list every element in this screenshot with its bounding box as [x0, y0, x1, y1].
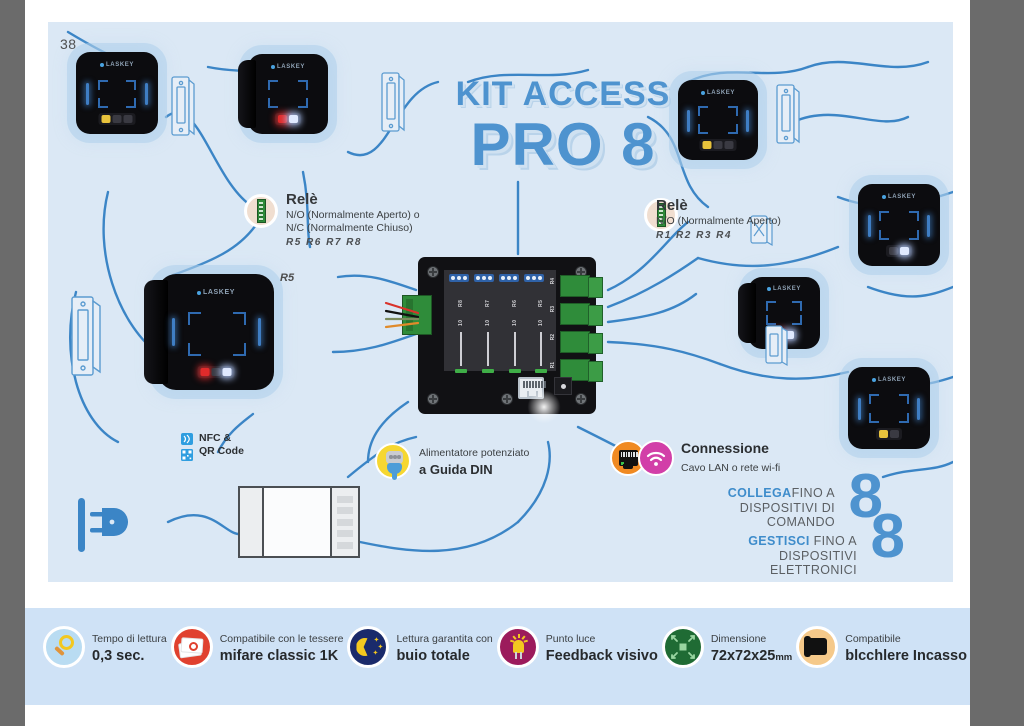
- callout-sub-2: N/C (Normalmente Chiuso): [286, 222, 420, 235]
- feature-line-1: Lettura garantita con: [396, 633, 492, 645]
- feature-line-1: Dimensione: [711, 633, 766, 645]
- scan-bracket-icon: [879, 211, 889, 221]
- scan-bracket-icon: [766, 301, 776, 311]
- electric-strike-lock-icon: [773, 82, 803, 148]
- channel-indicator: [482, 369, 494, 373]
- callout-channels: R1 R2 R3 R4: [656, 230, 781, 241]
- channel-stalk: [514, 332, 516, 366]
- board-screw: [427, 393, 439, 405]
- feature-line-2: blcchlere Incasso: [845, 648, 967, 664]
- scan-bracket-icon: [298, 98, 308, 108]
- diagram-panel: 38 KIT ACCESS PRO 8 LASKEY LASKEY: [48, 22, 953, 582]
- board-screw: [427, 266, 439, 278]
- flush-box-icon: [796, 626, 838, 668]
- capacity-manage-count: 8: [871, 506, 905, 568]
- plug-icon: [387, 463, 402, 474]
- led-white: [900, 247, 909, 255]
- nfc-qr-label: NFC & QR Code: [199, 432, 244, 462]
- feature-line-1: Compatibile: [845, 633, 900, 645]
- scan-bracket-icon: [98, 98, 108, 108]
- scan-bracket-icon: [869, 413, 879, 423]
- channel-label: R5: [538, 290, 544, 316]
- power-supply-line-1: Alimentatore potenziato: [419, 447, 529, 459]
- pin-header-block: [524, 274, 544, 282]
- feature-light-point: Punto luce Feedback visivo: [497, 626, 658, 668]
- callout-channels: R5 R6 R7 R8: [286, 237, 420, 248]
- brand-logo: LASKEY: [248, 64, 328, 70]
- led-amber: [879, 430, 888, 438]
- reader-side-face: [738, 283, 756, 343]
- feature-text: Dimensione 72x72x25mm: [711, 629, 792, 665]
- relay-terminal-group[interactable]: R4 R3 R2 R1: [560, 275, 590, 381]
- scan-bracket-icon: [98, 80, 108, 90]
- relay-terminal-r4[interactable]: R4: [560, 275, 590, 297]
- pin-header-row: [449, 274, 544, 282]
- side-led-icon: [858, 398, 861, 420]
- reader-side-face: [238, 60, 256, 128]
- side-led-icon: [86, 83, 89, 105]
- psu-terminal-segment: [332, 488, 358, 556]
- feature-text: Lettura garantita con buio totale: [396, 629, 492, 665]
- scan-bracket-icon: [126, 98, 136, 108]
- strike-lock-small-icon: [763, 322, 791, 368]
- rj45-pins: [523, 381, 546, 388]
- callout-title: Relè: [656, 198, 781, 215]
- board-channel-r6: R6 10: [502, 290, 528, 373]
- magnifier-glyph: [51, 634, 77, 660]
- moon-glyph: ✦ ✦ ✦: [355, 635, 381, 659]
- capacity-connect-line-2: DISPOSITIVI DI COMANDO: [700, 501, 835, 529]
- qr-label: QR Code: [199, 445, 244, 457]
- scan-bracket-icon: [188, 343, 201, 356]
- capacity-manage-rest: FINO A: [810, 534, 857, 548]
- channel-sublabel: 10: [458, 316, 464, 330]
- status-leds: [886, 245, 912, 257]
- reader-module-top-left[interactable]: LASKEY: [76, 52, 158, 134]
- power-supply-labels: Alimentatore potenziato a Guida DIN: [419, 443, 529, 479]
- feature-unit: mm: [775, 652, 792, 663]
- brand-dot-icon: [197, 291, 201, 295]
- rj45-notch: [527, 391, 538, 398]
- led-off: [889, 247, 898, 255]
- feature-line-1: Punto luce: [546, 633, 596, 645]
- feature-dimension: Dimensione 72x72x25mm: [662, 626, 792, 668]
- scan-bracket-icon: [188, 312, 201, 325]
- side-led-icon: [868, 215, 871, 237]
- reader-module-top-second[interactable]: LASKEY: [248, 54, 328, 134]
- channel-label: R7: [485, 290, 491, 316]
- board-channel-r7: R7 10: [475, 290, 501, 373]
- callout-power-supply: Alimentatore potenziato a Guida DIN: [375, 443, 529, 479]
- scan-bracket-icon: [298, 80, 308, 90]
- callout-relay-right: Relè N/O (Normalmente Aperto) R1 R2 R3 R…: [656, 198, 781, 241]
- relay-terminal-r3[interactable]: R3: [560, 303, 590, 325]
- moon-stars-icon: ✦ ✦ ✦: [347, 626, 389, 668]
- frame-left-bar: [0, 0, 22, 726]
- channel-indicator: [535, 369, 547, 373]
- side-led-icon: [687, 110, 690, 132]
- led-red: [201, 368, 210, 376]
- feature-text: Punto luce Feedback visivo: [546, 629, 658, 665]
- board-screw: [501, 393, 513, 405]
- led-light-icon: [497, 626, 539, 668]
- connection-icons: [610, 440, 674, 476]
- rj45-ethernet-port[interactable]: [518, 377, 544, 399]
- side-led-icon: [917, 398, 920, 420]
- capacity-manage-line-2: DISPOSITIVI ELETTRONICI: [700, 549, 857, 577]
- power-supply-icon: [375, 443, 411, 479]
- wifi-waves-glyph: [645, 449, 667, 467]
- side-led-icon: [746, 110, 749, 132]
- side-led-icon: [258, 318, 261, 346]
- feature-bar: Tempo di lettura 0,3 sec. Compatibile co…: [25, 608, 970, 705]
- brand-logo: LASKEY: [748, 286, 820, 292]
- feature-line-2: 72x72x25mm: [711, 648, 792, 664]
- terminal-label: R4: [550, 278, 556, 284]
- brand-logo: LASKEY: [678, 90, 758, 96]
- led-amber: [102, 115, 111, 123]
- relay-connector-icon: [257, 199, 266, 223]
- feature-line-2: 0,3 sec.: [92, 648, 144, 664]
- scan-bracket-icon: [792, 315, 802, 325]
- feature-read-time: Tempo di lettura 0,3 sec.: [43, 626, 167, 668]
- terminal-label: R1: [550, 362, 556, 368]
- side-led-icon: [927, 215, 930, 237]
- brand-dot-icon: [882, 195, 886, 199]
- card-stack-icon: [171, 626, 213, 668]
- status-leds: [275, 113, 301, 125]
- relay-terminal-r2[interactable]: R2: [560, 331, 590, 353]
- scan-bracket-icon: [728, 124, 738, 134]
- capacity-manage-strong: GESTISCI: [748, 534, 810, 548]
- lan-jack-glyph: [619, 450, 638, 466]
- reader-module-right-3[interactable]: LASKEY: [848, 367, 930, 449]
- side-led-icon: [145, 83, 148, 105]
- qr-code-icon: [180, 448, 194, 462]
- led-off: [714, 141, 723, 149]
- scan-bracket-icon: [698, 124, 708, 134]
- scan-bracket-icon: [909, 230, 919, 240]
- scan-bracket-icon: [909, 211, 919, 221]
- reader-module-top-right[interactable]: LASKEY: [678, 80, 758, 160]
- scan-bracket-icon: [899, 394, 909, 404]
- capacity-block: 8 8 COLLEGAFINO A DISPOSITIVI DI COMANDO…: [700, 468, 905, 573]
- power-supply-line-2: a Guida DIN: [419, 462, 493, 477]
- psu-body-segment: [264, 488, 332, 556]
- feature-flush-box: Compatibile blcchlere Incasso: [796, 626, 956, 668]
- device-tag-main: R5: [280, 272, 294, 284]
- board-main-chip-area: R8 10 R7 10 R6 10 R5: [444, 270, 556, 371]
- terminal-label: R3: [550, 306, 556, 312]
- electric-strike-lock-icon: [378, 70, 408, 136]
- pin-header-block: [499, 274, 519, 282]
- capacity-connect-rest: FINO A: [792, 486, 835, 500]
- status-leds: [876, 428, 902, 440]
- brand-logo: LASKEY: [76, 62, 158, 68]
- relay-bubble-left: [244, 194, 278, 228]
- board-screw: [575, 393, 587, 405]
- led-off: [890, 430, 899, 438]
- nfc-qr-icons: [180, 432, 194, 462]
- scan-bracket-icon: [268, 98, 278, 108]
- scan-bracket-icon: [879, 230, 889, 240]
- din-power-supply-graphic: [238, 486, 360, 558]
- page-number: 38: [60, 36, 77, 52]
- led-white: [223, 368, 232, 376]
- feature-text: Tempo di lettura 0,3 sec.: [92, 629, 167, 665]
- scan-bracket-icon: [126, 80, 136, 90]
- channel-stalk: [460, 332, 462, 366]
- psu-left-segment: [240, 488, 264, 556]
- led-off: [124, 115, 133, 123]
- led-red: [278, 115, 287, 123]
- pin-header-block: [474, 274, 494, 282]
- channel-sublabel: 10: [512, 316, 518, 330]
- scan-bracket-icon: [899, 413, 909, 423]
- feature-card-compat: Compatibile con le tessere mifare classi…: [171, 626, 344, 668]
- electric-strike-lock-icon: [168, 74, 198, 140]
- channel-sublabel: 10: [538, 316, 544, 330]
- scan-bracket-icon: [869, 394, 879, 404]
- callout-relay-left: Relè N/O (Normalmente Aperto) o N/C (Nor…: [286, 192, 420, 248]
- led-white: [289, 115, 298, 123]
- channel-stalk: [487, 332, 489, 366]
- callout-title: Relè: [286, 192, 420, 209]
- brand-dot-icon: [701, 91, 705, 95]
- capacity-manage-line-1: GESTISCI FINO A: [748, 534, 857, 548]
- side-led-icon: [172, 318, 175, 346]
- scan-bracket-icon: [728, 106, 738, 116]
- callout-sub-1: N/O (Normalmente Aperto) o: [286, 209, 420, 222]
- callout-sub-1: N/O (Normalmente Aperto): [656, 215, 781, 228]
- feature-line-2: Feedback visivo: [546, 648, 658, 664]
- feature-line-2: buio totale: [396, 648, 469, 664]
- led-off: [113, 115, 122, 123]
- brand-dot-icon: [100, 63, 104, 67]
- pin-header-block: [449, 274, 469, 282]
- channel-stalk: [540, 332, 542, 366]
- feature-list: Tempo di lettura 0,3 sec. Compatibile co…: [43, 626, 956, 668]
- dimension-arrows-icon: [662, 626, 704, 668]
- brand-logo: LASKEY: [158, 289, 274, 296]
- board-channel-r5: R5 10: [528, 290, 554, 373]
- led-off: [212, 368, 221, 376]
- nfc-icon: [180, 432, 194, 446]
- brand-dot-icon: [872, 378, 876, 382]
- dimension-glyph: [670, 634, 696, 660]
- reset-button[interactable]: [554, 377, 572, 395]
- capacity-connect-strong: COLLEGA: [728, 486, 792, 500]
- wifi-icon: [638, 440, 674, 476]
- brand-logo: LASKEY: [848, 377, 930, 383]
- channel-sublabel: 10: [485, 316, 491, 330]
- feature-line-2: mifare classic 1K: [220, 648, 339, 664]
- feature-text: Compatibile blcchlere Incasso: [845, 629, 967, 665]
- channel-indicator: [455, 369, 467, 373]
- mains-plug-icon: [76, 494, 136, 556]
- flush-box-glyph: [804, 636, 830, 658]
- feature-line-1: Tempo di lettura: [92, 633, 167, 645]
- channel-label: R8: [458, 290, 464, 316]
- status-leds: [99, 113, 136, 125]
- led-amber: [703, 141, 712, 149]
- reader-module-right-1[interactable]: LASKEY: [858, 184, 940, 266]
- terminal-label: R2: [550, 334, 556, 340]
- led-glyph: [505, 634, 531, 660]
- frame-right-bar: [970, 0, 1024, 726]
- controller-board[interactable]: R8 10 R7 10 R6 10 R5: [418, 257, 596, 414]
- scan-bracket-icon: [233, 312, 246, 325]
- board-channel-r8: R8 10: [448, 290, 474, 373]
- channel-label: R6: [512, 290, 518, 316]
- capacity-connect-line-1: COLLEGAFINO A: [728, 486, 835, 500]
- nfc-label: NFC &: [199, 432, 231, 444]
- brand-logo: LASKEY: [858, 194, 940, 200]
- input-wires: [384, 297, 436, 331]
- card-stack-glyph: [179, 636, 205, 658]
- brand-dot-icon: [271, 65, 275, 69]
- scan-bracket-icon: [698, 106, 708, 116]
- status-leds: [700, 139, 737, 151]
- callout-nfc-qr: NFC & QR Code: [180, 432, 244, 462]
- scan-bracket-icon: [792, 301, 802, 311]
- electric-strike-lock-icon: [68, 294, 104, 380]
- channel-indicator: [509, 369, 521, 373]
- led-off: [725, 141, 734, 149]
- feature-line-1: Compatibile con le tessere: [220, 633, 344, 645]
- status-leds: [198, 366, 235, 378]
- connection-title: Connessione: [681, 440, 769, 456]
- page-root: 38 KIT ACCESS PRO 8 LASKEY LASKEY: [0, 0, 1024, 726]
- scan-bracket-icon: [233, 343, 246, 356]
- scan-bracket-icon: [268, 80, 278, 90]
- brand-dot-icon: [767, 287, 771, 291]
- feature-dark-read: ✦ ✦ ✦ Lettura garantita con buio totale: [347, 626, 492, 668]
- magnifier-icon: [43, 626, 85, 668]
- reader-module-main[interactable]: LASKEY: [158, 274, 274, 390]
- feature-text: Compatibile con le tessere mifare classi…: [220, 629, 344, 665]
